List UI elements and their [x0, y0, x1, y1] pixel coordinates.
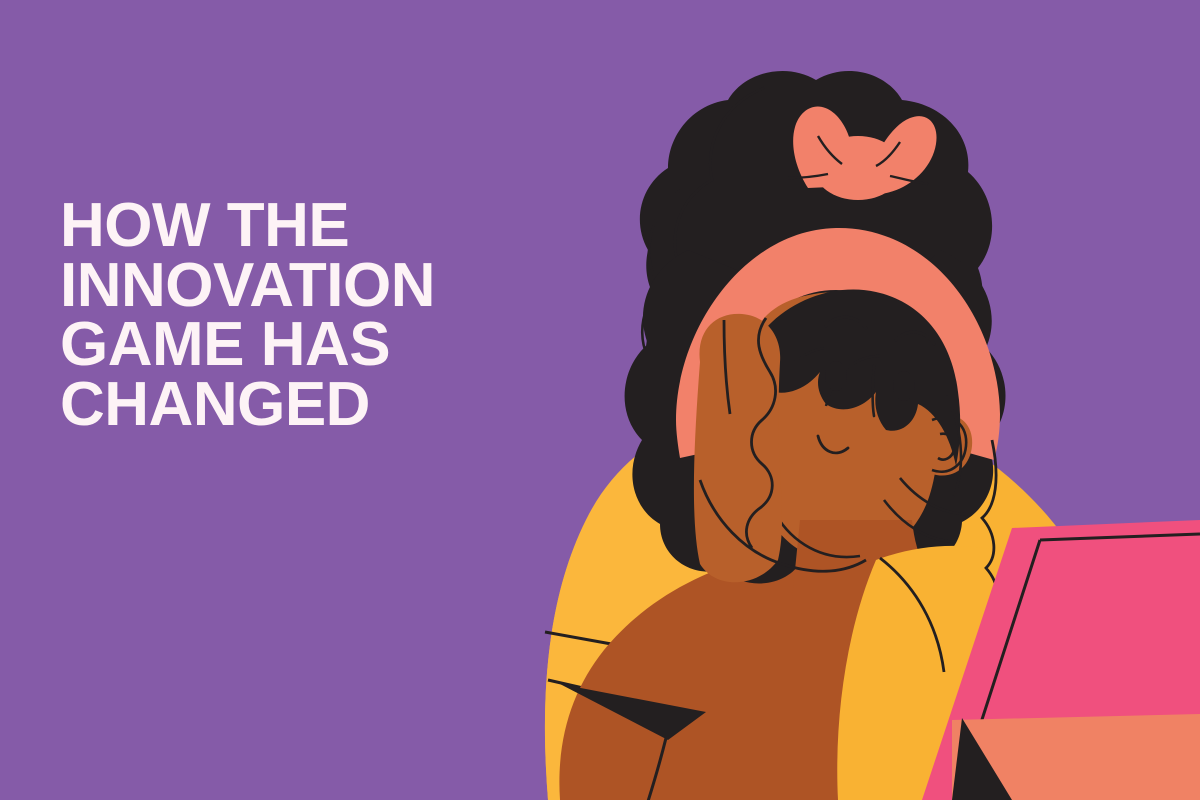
left-eye [825, 361, 847, 391]
right-eye [893, 371, 915, 401]
hand [694, 314, 782, 582]
poster-canvas: How the Innovation Game Has Changed [0, 0, 1200, 800]
headband-bow-knot [814, 136, 902, 200]
nose [873, 366, 875, 416]
page-title: How the Innovation Game Has Changed [60, 196, 560, 434]
